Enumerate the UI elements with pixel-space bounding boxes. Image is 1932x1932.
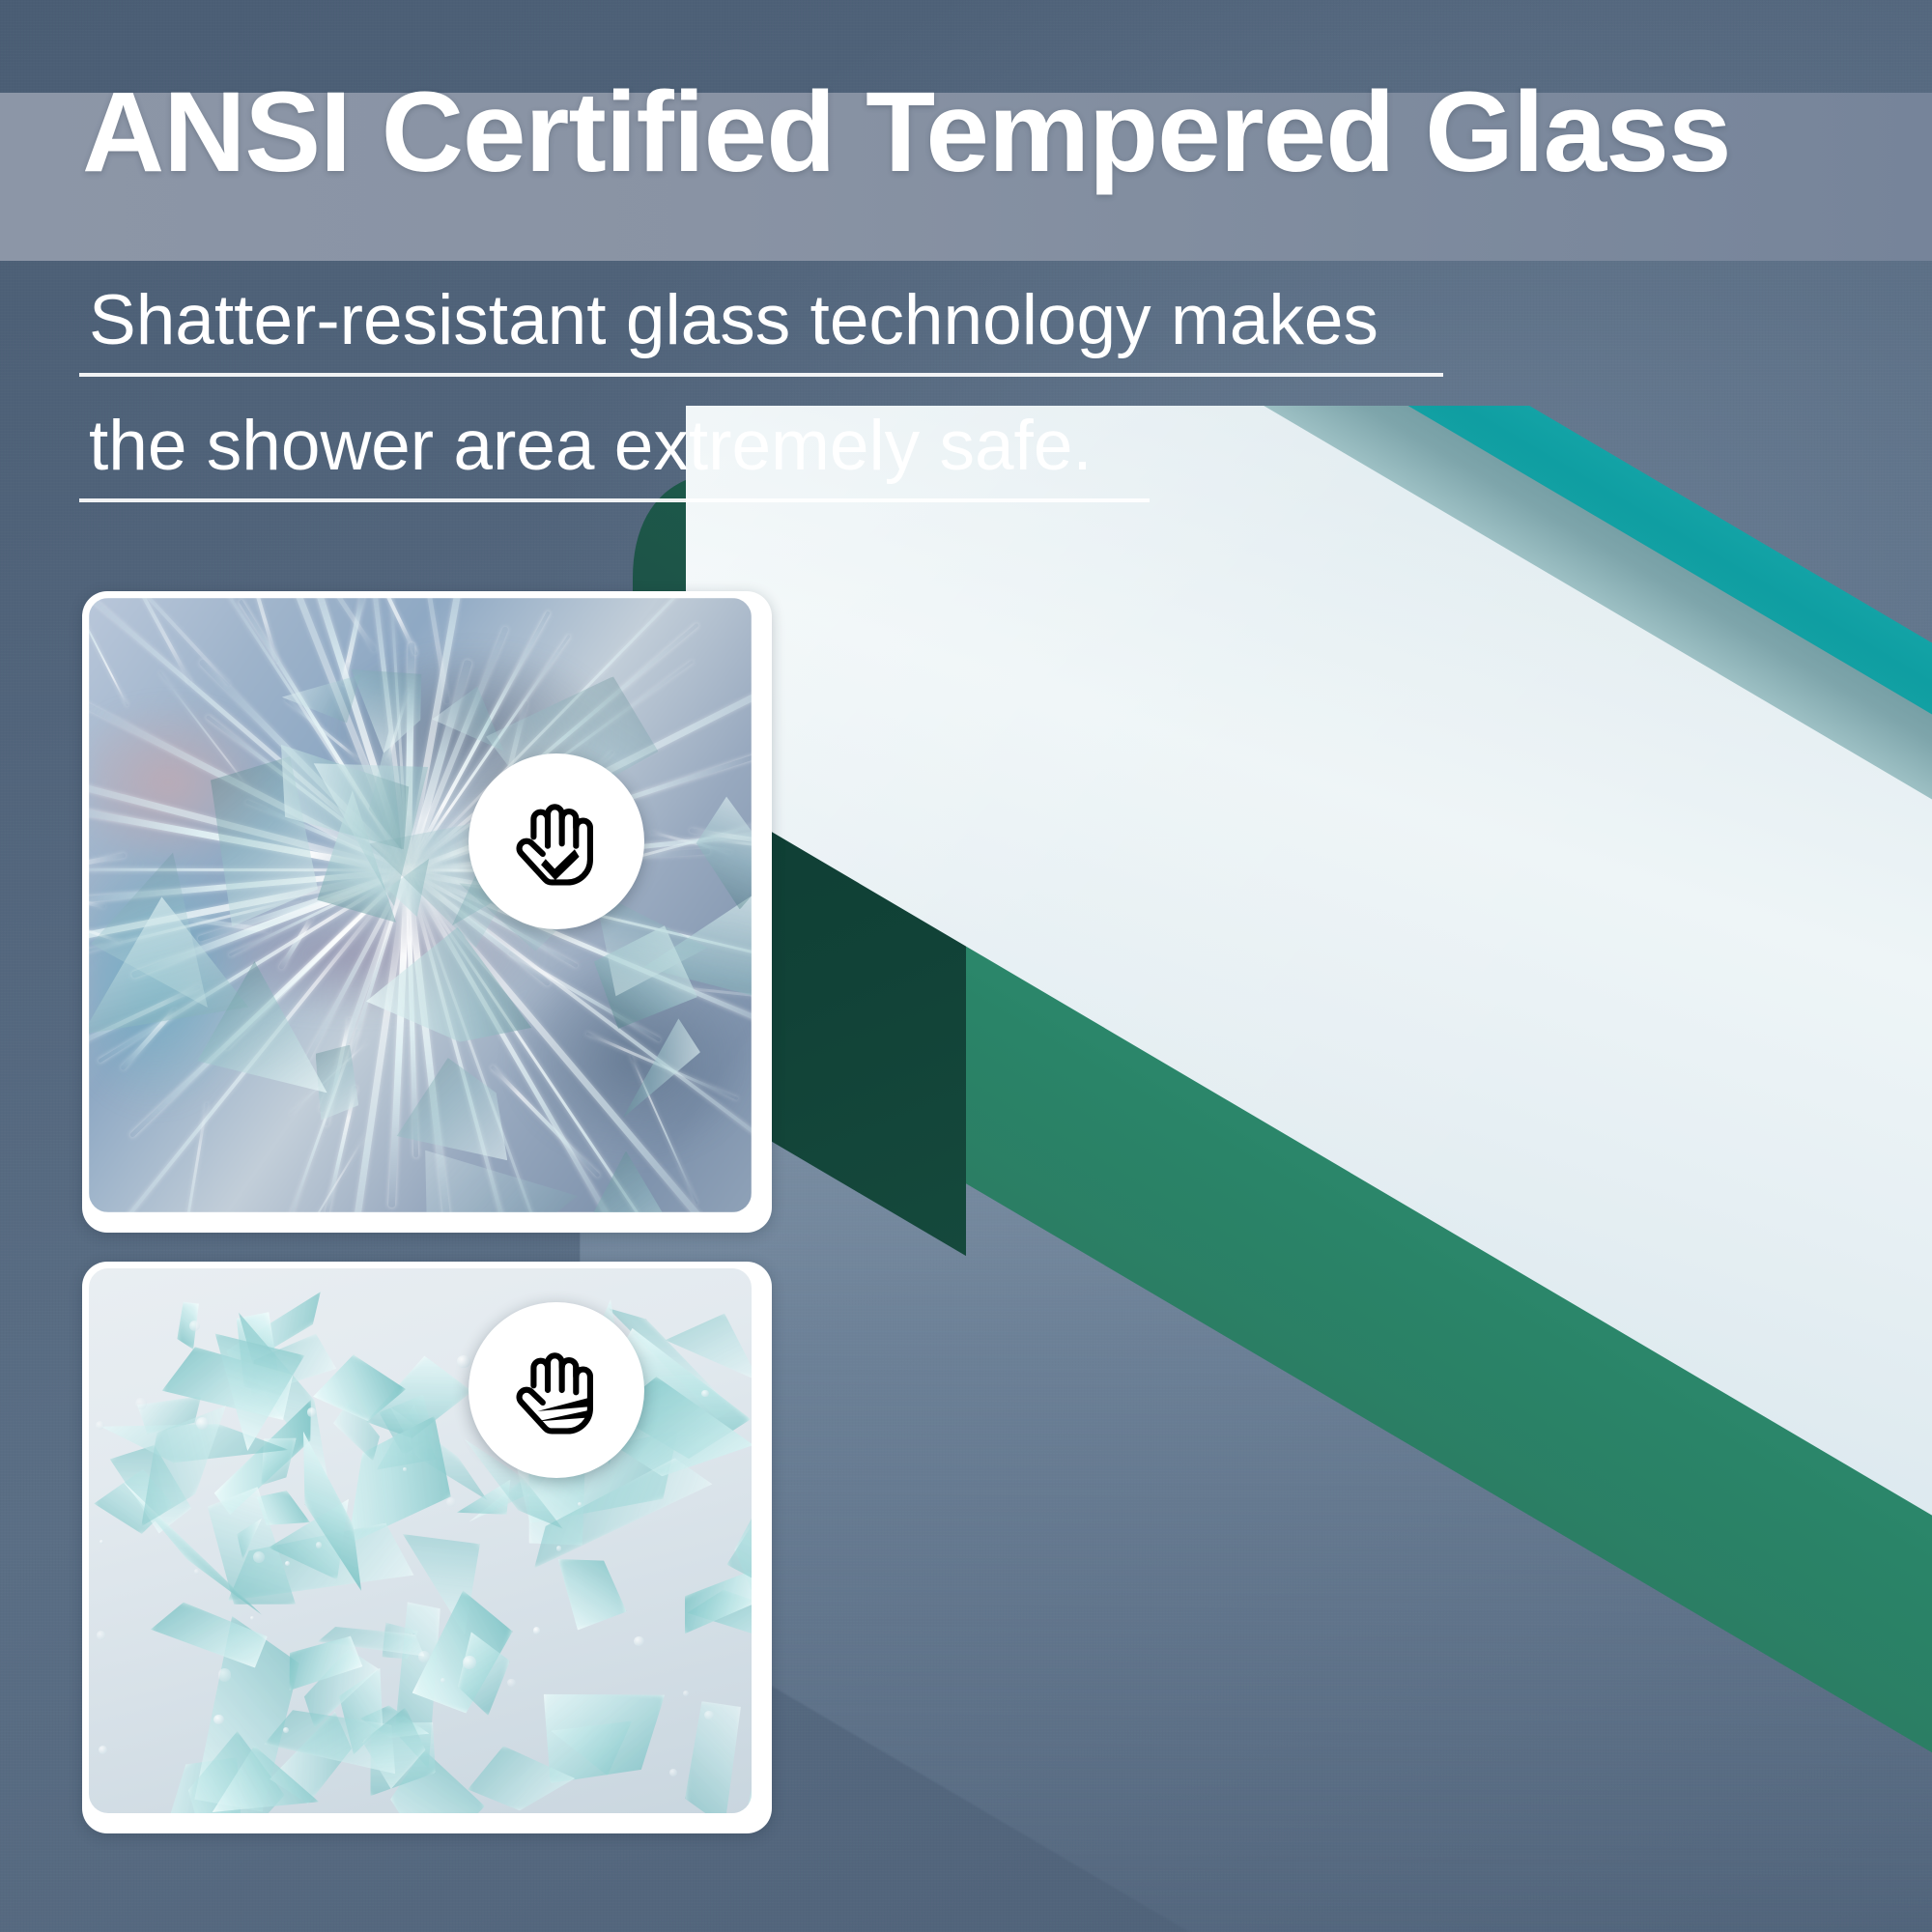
photo-glass-shards xyxy=(89,1268,752,1813)
glass-dust-speck xyxy=(507,1679,516,1688)
glass-dust-speck xyxy=(634,1636,644,1647)
glass-dust-speck xyxy=(533,1627,540,1634)
glass-dust-speck xyxy=(440,1678,445,1683)
subtitle-line-1: Shatter-resistant glass technology makes xyxy=(89,285,1499,377)
glass-dust-speck xyxy=(189,1321,200,1331)
hand-check-icon xyxy=(499,784,613,898)
glass-dust-speck xyxy=(250,1616,254,1620)
glass-dust-speck xyxy=(316,1542,323,1548)
glass-dust-speck xyxy=(97,1631,106,1640)
glass-dust-speck xyxy=(403,1467,407,1471)
glass-dust-speck xyxy=(99,1540,103,1544)
subtitle-line-2: the shower area extremely safe. xyxy=(89,411,1499,502)
photo-cracked-glass xyxy=(89,598,752,1212)
glass-dust-speck xyxy=(285,1561,290,1566)
tempered-glass-panel-illustration xyxy=(580,406,1932,1932)
glass-dust-speck xyxy=(218,1668,232,1682)
glass-dust-speck xyxy=(135,1398,146,1408)
photo-card-cracked-glass xyxy=(82,591,772,1233)
badge-hazard xyxy=(469,1302,644,1478)
glass-dust-speck xyxy=(704,1711,713,1719)
page-title: ANSI Certified Tempered Glass xyxy=(82,75,1731,189)
subtitle-block: Shatter-resistant glass technology makes… xyxy=(89,285,1499,536)
badge-safe xyxy=(469,753,644,929)
photo-card-glass-shards xyxy=(82,1262,772,1833)
glass-dust-speck xyxy=(463,1656,476,1669)
glass-dust-speck xyxy=(683,1690,689,1696)
hand-cut-icon xyxy=(499,1333,613,1447)
glass-dust-speck xyxy=(307,1407,317,1417)
glass-dust-speck xyxy=(701,1390,708,1397)
glass-dust-speck xyxy=(194,1569,200,1575)
